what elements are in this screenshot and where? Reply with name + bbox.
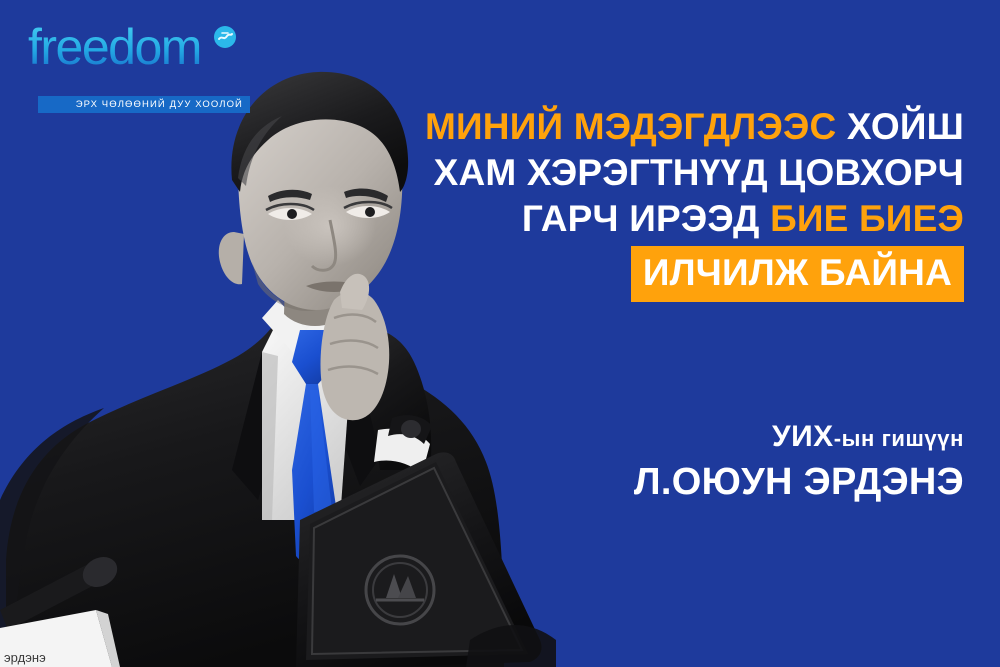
hand	[321, 291, 390, 420]
headline-line-4: ИЛЧИЛЖ БАЙНА	[264, 242, 964, 302]
headline: МИНИЙ МЭДЭГДЛЭЭС ХОЙШ ХАМ ХЭРЭГТНҮҮД ЦОВ…	[264, 104, 964, 302]
nameplate-text: эрдэнэ	[4, 650, 46, 665]
headline-segment: МИНИЙ МЭДЭГДЛЭЭС	[425, 106, 836, 147]
headline-segment: ГАРЧ ИРЭЭД	[522, 198, 770, 239]
headline-line-3: ГАРЧ ИРЭЭД БИЕ БИЕЭ	[264, 196, 964, 242]
headline-segment: БИЕ БИЕЭ	[770, 198, 964, 239]
quote-card: эрдэнэ freedom ЭРХ ЧӨЛӨӨНИЙ ДУУ ХООЛОЙ	[0, 0, 1000, 667]
cyan-circle-wave-icon	[212, 24, 238, 50]
attribution-role: УИХ-ын гишүүн	[344, 418, 964, 458]
attribution-role-suffix: -ын гишүүн	[834, 426, 964, 451]
attribution-name: Л.ОЮУН ЭРДЭНЭ	[344, 458, 964, 506]
headline-segment: ХАМ ХЭРЭГТНҮҮД ЦОВХОРЧ	[434, 152, 964, 193]
logo-tagline-bar: ЭРХ ЧӨЛӨӨНИЙ ДУУ ХООЛОЙ	[38, 96, 250, 113]
attribution: УИХ-ын гишүүн Л.ОЮУН ЭРДЭНЭ	[344, 418, 964, 506]
headline-segment: ХОЙШ	[836, 106, 964, 147]
headline-line-2: ХАМ ХЭРЭГТНҮҮД ЦОВХОРЧ	[264, 150, 964, 196]
headline-line-1: МИНИЙ МЭДЭГДЛЭЭС ХОЙШ	[264, 104, 964, 150]
freedom-logo[interactable]: freedom ЭРХ ЧӨЛӨӨНИЙ ДУУ ХООЛОЙ	[28, 22, 248, 98]
logo-tagline: ЭРХ ЧӨЛӨӨНИЙ ДУУ ХООЛОЙ	[76, 99, 250, 110]
headline-highlight: ИЛЧИЛЖ БАЙНА	[631, 246, 964, 302]
freedom-wordmark-text: freedom	[28, 22, 201, 74]
attribution-role-main: УИХ	[772, 420, 834, 453]
